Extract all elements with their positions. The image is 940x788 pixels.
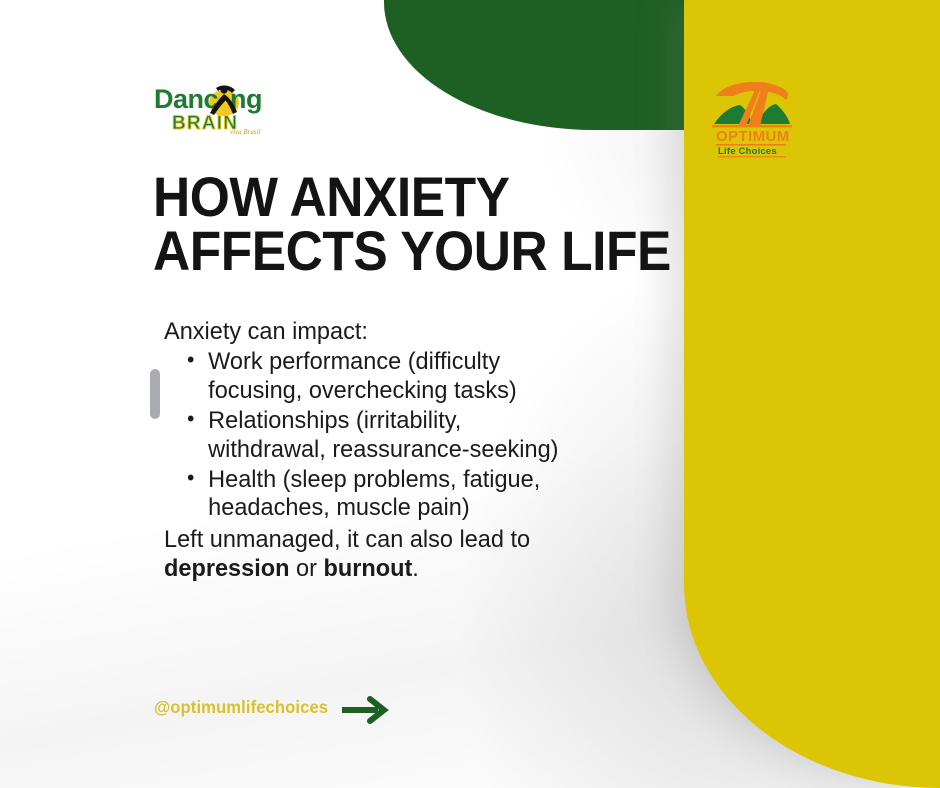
headline-line-1: HOW ANXIETY bbox=[153, 170, 585, 224]
headline-line-2: AFFECTS YOUR LIFE bbox=[153, 224, 585, 278]
list-item: Relationships (irritability, withdrawal,… bbox=[208, 407, 577, 465]
closing-period: . bbox=[412, 555, 419, 582]
svg-text:Danc: Danc bbox=[154, 84, 219, 114]
lead-text: Anxiety can impact: bbox=[164, 318, 577, 347]
list-item: Health (sleep problems, fatigue, headach… bbox=[208, 466, 577, 524]
svg-text:OPTIMUM: OPTIMUM bbox=[716, 128, 790, 145]
optimum-life-choices-logo: OPTIMUM Life Choices bbox=[708, 78, 796, 158]
svg-text:viva Brasil: viva Brasil bbox=[230, 128, 261, 136]
svg-text:BRAIN: BRAIN bbox=[172, 113, 238, 134]
closing-text-line-2: depression or burnout. bbox=[164, 555, 577, 584]
keyword-depression: depression bbox=[164, 555, 289, 582]
closing-conjunction: or bbox=[289, 555, 323, 582]
keyword-burnout: burnout bbox=[323, 555, 412, 582]
scrollbar-thumb[interactable] bbox=[150, 369, 160, 419]
dancing-brain-logo: Danc ng BRAIN viva Brasil bbox=[154, 82, 278, 136]
list-item: Work performance (difficulty focusing, o… bbox=[208, 348, 577, 406]
arrow-right-icon[interactable] bbox=[340, 694, 392, 726]
impact-list: Work performance (difficulty focusing, o… bbox=[164, 348, 577, 523]
slide-canvas: Danc ng BRAIN viva Brasil OPTIMUM Life C… bbox=[0, 0, 940, 788]
social-handle[interactable]: @optimumlifechoices bbox=[154, 697, 328, 718]
body-content: Anxiety can impact: Work performance (di… bbox=[164, 318, 577, 584]
closing-text-line-1: Left unmanaged, it can also lead to bbox=[164, 526, 577, 555]
page-title: HOW ANXIETY AFFECTS YOUR LIFE bbox=[153, 170, 585, 279]
svg-text:Life Choices: Life Choices bbox=[718, 146, 777, 157]
